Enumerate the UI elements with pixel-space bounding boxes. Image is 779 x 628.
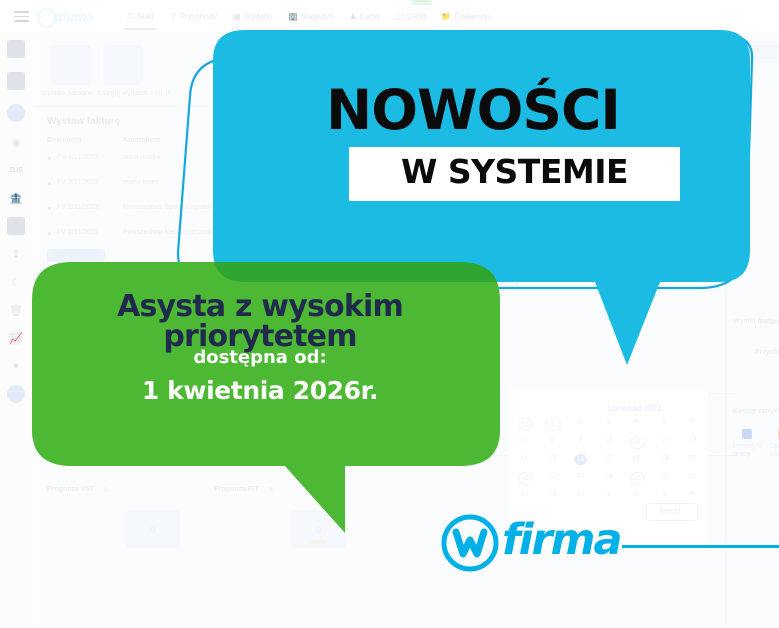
- status-dot: [48, 232, 51, 235]
- income-icon: ⇧: [170, 12, 177, 21]
- calendar-day[interactable]: 25: [630, 472, 645, 485]
- forecast-pit-title: Prognoza PIT: [214, 486, 259, 493]
- nav-label: Przychody: [180, 12, 217, 21]
- calendar-day[interactable]: 28: [518, 491, 531, 498]
- invoice-row-contractor: anna modra: [123, 154, 160, 161]
- calendar-day[interactable]: 29: [546, 491, 559, 498]
- quick-action-label-ocr: Księguj wydatek z OCR: [97, 90, 171, 97]
- nav-item-start[interactable]: ☖ Start: [124, 3, 157, 30]
- quick-action-tile-receipt[interactable]: [51, 45, 91, 85]
- calendar-day[interactable]: 7: [518, 437, 531, 444]
- quick-action-tile-ocr[interactable]: [103, 45, 143, 85]
- calendar-day[interactable]: 5: [658, 419, 671, 426]
- calendar-day[interactable]: 1: [546, 418, 561, 431]
- declarations-tooltip: Tematy: [381, 405, 404, 412]
- calendar-day[interactable]: 4: [686, 491, 699, 498]
- calendar-day[interactable]: 4: [630, 419, 643, 426]
- expense-icon: ▦: [233, 12, 241, 21]
- calendar-day[interactable]: 22: [546, 473, 559, 480]
- projects-label: Projekt: [759, 319, 779, 326]
- green-bubble-title: Asysta z wysokim priorytetem: [20, 292, 500, 352]
- declarations-card-title: Deklaracje, zeznania i JPK: [47, 405, 135, 412]
- nav-label: Ewidencje: [454, 12, 490, 21]
- legend-swatch-employment: [742, 429, 752, 439]
- invoice-row-contractor: maria lasek: [123, 179, 159, 186]
- calendar-day[interactable]: 13: [686, 437, 699, 444]
- nav-label: Magazyn: [301, 12, 333, 21]
- calendar-day[interactable]: 9: [574, 437, 587, 444]
- invoice-row-document[interactable]: FV 2/11/2022: [57, 204, 99, 211]
- status-dot: [48, 157, 51, 160]
- cloud-icon[interactable]: [7, 104, 25, 122]
- nav-label: CRM: [407, 12, 425, 21]
- legend-label-contract: Umowy zlecenie: [770, 443, 779, 459]
- wizard-step-0: TRZECI KROK: [373, 282, 420, 289]
- nav-item-magazyn[interactable]: 🏢 Magazyn: [285, 3, 336, 30]
- wfirma-footer-logo: firma: [440, 512, 779, 574]
- declaration-status-0: Wysłane: [163, 425, 190, 432]
- people-icon: ♟: [350, 12, 357, 21]
- cash-icon[interactable]: [7, 217, 25, 235]
- folder-icon: 📁: [441, 12, 451, 21]
- main-nav: ☖ Start ⇧ Przychody ▦ Wydatki 🏢 Magazyn …: [124, 0, 494, 33]
- calendar-title: Listopad 2022: [608, 404, 661, 413]
- invoice-row-document[interactable]: FV 1/11/2022: [57, 229, 99, 236]
- wizard-button-label-0: Dalej, utwórz: [378, 266, 418, 273]
- calendar-day[interactable]: 3: [658, 491, 671, 498]
- bank-icon[interactable]: 🏦: [7, 189, 25, 207]
- invoice-col-document: Dokument: [47, 137, 81, 144]
- forecast-pit-sub: Upew: [309, 539, 327, 546]
- forecast-vat-title: Prognoza VAT: [47, 486, 94, 493]
- calendar-day[interactable]: 6: [686, 419, 699, 426]
- nav-item-przychody[interactable]: ⇧ Przychody: [167, 3, 220, 30]
- right-panel-tile: [733, 41, 779, 63]
- calendar-day[interactable]: 23: [574, 473, 587, 480]
- nav-label: Wydatki: [244, 12, 272, 21]
- green-bubble-date: 1 kwietnia 2026r.: [20, 378, 500, 403]
- calendar-day[interactable]: 11: [630, 436, 645, 449]
- nav-item-kadry[interactable]: ♟ Kadry: [347, 3, 384, 30]
- globe-icon[interactable]: ◉: [7, 133, 25, 151]
- calendar-day[interactable]: 31: [518, 418, 533, 431]
- green-bubble-subtitle: dostępna od:: [20, 349, 500, 367]
- nav-badge-new: NOWE: [411, 0, 433, 5]
- zus-icon[interactable]: ZUS: [7, 161, 25, 179]
- invoice-card-title: Wystaw fakturę: [47, 116, 120, 127]
- calendar-day[interactable]: 12: [658, 437, 671, 444]
- calendar-day[interactable]: 15: [546, 455, 559, 462]
- cyan-bubble-subtitle: W SYSTEMIE: [349, 155, 680, 188]
- calendar-day[interactable]: 3: [602, 419, 615, 426]
- nav-item-wydatki[interactable]: ▦ Wydatki: [230, 3, 275, 30]
- revenue-label: Przychody: [755, 349, 779, 356]
- declaration-name-0[interactable]: JPK_V7: [71, 425, 96, 432]
- calendar-day[interactable]: 1: [602, 491, 615, 498]
- home-icon: ☖: [127, 12, 134, 21]
- list-icon[interactable]: [7, 72, 25, 90]
- nav-item-crm[interactable]: ▢ CRM NOWE: [394, 3, 429, 30]
- invoice-row-document[interactable]: FV 4/11/2022: [57, 154, 99, 161]
- refresh-icon[interactable]: ↻: [269, 486, 275, 494]
- calendar-day[interactable]: 30: [574, 491, 587, 498]
- invoice-col-contractor: Kontrahent: [123, 137, 160, 144]
- calendar-day[interactable]: 27: [686, 473, 699, 480]
- invoice-row-contractor: Powszechna Kasa Oszczędności: [123, 229, 226, 236]
- wizard-step-1: CZWARTY KROK: [463, 282, 519, 289]
- calendar-day[interactable]: 18: [630, 455, 643, 462]
- employment-title: Koszty zatrudnienia: [733, 408, 779, 415]
- download-icon[interactable]: ↧: [7, 245, 25, 263]
- calendar-day[interactable]: 24: [602, 473, 615, 480]
- invoice-row-contractor: Ministerstwo Spraw Zagranicznych: [123, 204, 231, 211]
- nav-label: Kadry: [360, 12, 381, 21]
- warehouse-icon: 🏢: [288, 12, 298, 21]
- issue-invoice-button-label: Wystaw fakturę: [53, 252, 101, 259]
- briefcase-icon[interactable]: [7, 40, 25, 58]
- calendar-day[interactable]: 8: [546, 437, 559, 444]
- calendar-day[interactable]: 2: [630, 491, 643, 498]
- calendar-day-selected[interactable]: 16: [574, 454, 587, 465]
- nav-item-ewidencje[interactable]: 📁 Ewidencje: [438, 3, 493, 30]
- wizard-button-label-1: Rozpoczęcie: [468, 266, 508, 273]
- hamburger-icon[interactable]: [14, 11, 29, 22]
- status-dot: [48, 207, 51, 210]
- wfirma-logo-text: firma: [502, 519, 620, 562]
- forecast-vat-value: 0: [150, 525, 155, 535]
- invoice-row-document[interactable]: FV 3/11/2022: [57, 179, 99, 186]
- declaration-status-1: Listopad 2022: [163, 443, 207, 450]
- legend-label-employment: Umowy o pracę: [733, 443, 767, 459]
- nav-label: Start: [137, 12, 154, 21]
- logo-text: wfirma: [53, 9, 93, 24]
- status-dot: [48, 182, 51, 185]
- top-navigation-bar: wfirma ☖ Start ⇧ Przychody ▦ Wydatki 🏢 M…: [0, 0, 779, 34]
- calendar-day[interactable]: 21: [518, 472, 533, 485]
- cyan-bubble-title: NOWOŚCI: [213, 83, 733, 138]
- calendar-day[interactable]: 14: [518, 455, 531, 462]
- wfirma-logo-mark-icon: [440, 512, 504, 574]
- calendar-day[interactable]: 17: [602, 455, 615, 462]
- forecast-pit-value: 0: [316, 525, 321, 535]
- moon-icon[interactable]: ☾: [7, 273, 25, 291]
- refresh-icon[interactable]: ↻: [103, 486, 109, 494]
- crm-icon: ▢: [397, 12, 405, 21]
- calendar-day[interactable]: 10: [602, 437, 615, 444]
- calendar-day[interactable]: 20: [686, 455, 699, 462]
- quick-action-label-receipt: Wystaw paragon: [41, 90, 93, 97]
- calendar-day[interactable]: 19: [658, 455, 671, 462]
- calendar-day[interactable]: 26: [658, 473, 671, 480]
- calendar-day[interactable]: 2: [574, 419, 587, 426]
- declaration-name-1[interactable]: PIT: [71, 443, 82, 450]
- wfirma-logo-rule: [622, 545, 779, 548]
- app-logo[interactable]: wfirma: [36, 7, 106, 26]
